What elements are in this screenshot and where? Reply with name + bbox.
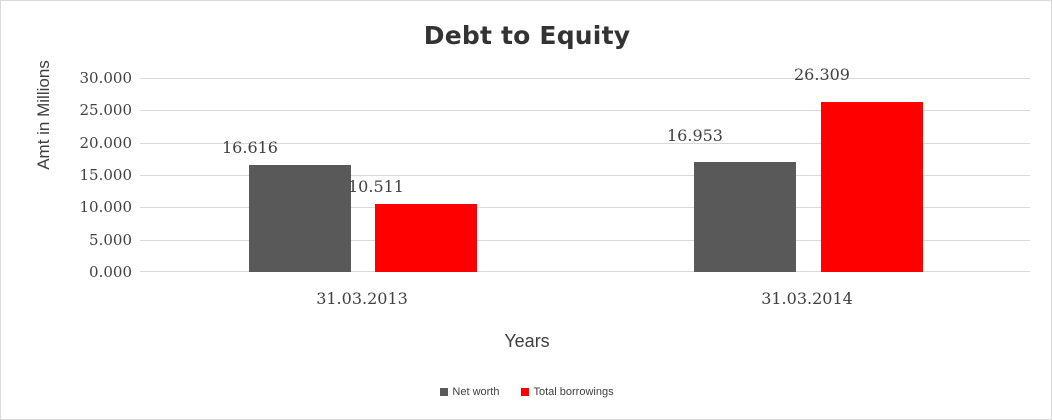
y-tick-label: 10.000 [12, 198, 132, 216]
y-tick-label: 0.000 [12, 263, 132, 281]
y-tick-label: 25.000 [12, 101, 132, 119]
legend-swatch-icon [521, 388, 529, 396]
chart-title: Debt to Equity [1, 21, 1052, 50]
bar-total-borrowings-2013[interactable] [375, 204, 477, 272]
legend-item-total-borrowings[interactable]: Total borrowings [521, 386, 613, 398]
y-tick-label: 5.000 [12, 231, 132, 249]
bar-total-borrowings-2014[interactable] [821, 102, 923, 272]
legend-item-net-worth[interactable]: Net worth [440, 386, 499, 398]
data-label-total-borrowings-2014: 26.309 [771, 65, 873, 84]
chart-legend: Net worth Total borrowings [1, 386, 1052, 398]
data-label-net-worth-2014: 16.953 [644, 126, 746, 145]
plot-area [140, 78, 1030, 272]
data-label-net-worth-2013: 16.616 [199, 138, 301, 157]
legend-label-net-worth: Net worth [452, 386, 499, 398]
x-axis-title: Years [1, 331, 1052, 352]
x-tick-label-2014: 31.03.2014 [696, 289, 918, 308]
y-tick-label: 15.000 [12, 166, 132, 184]
y-tick-label: 20.000 [12, 134, 132, 152]
y-tick-label: 30.000 [12, 69, 132, 87]
legend-label-total-borrowings: Total borrowings [533, 386, 613, 398]
bar-net-worth-2014[interactable] [694, 162, 796, 272]
gridline [140, 78, 1030, 79]
x-tick-label-2013: 31.03.2013 [251, 289, 473, 308]
y-axis-tick-labels: 30.000 25.000 20.000 15.000 10.000 5.000… [1, 78, 132, 272]
legend-swatch-icon [440, 388, 448, 396]
chart-container: Debt to Equity Amt in Millions 30.000 25… [0, 0, 1052, 420]
data-label-total-borrowings-2013: 10.511 [325, 177, 427, 196]
